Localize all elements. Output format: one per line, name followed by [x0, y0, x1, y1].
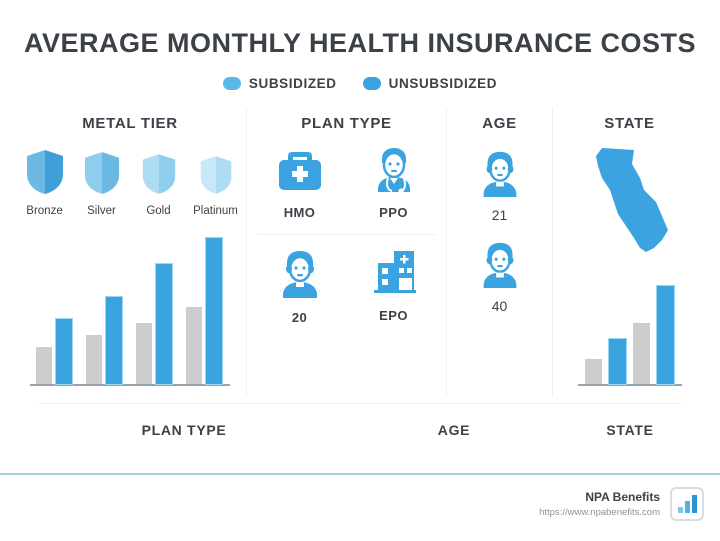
bottom-divider [38, 403, 682, 404]
age-label: 21 [447, 207, 552, 223]
plan-type-age-20: 20 [261, 247, 339, 325]
plan-type-bottom-row: 20 EPO [247, 247, 446, 325]
legend-swatch-icon [223, 77, 241, 90]
infographic-root: AVERAGE MONTHLY HEALTH INSURANCE COSTS S… [0, 0, 720, 438]
chart-baseline [30, 384, 230, 386]
icon-label: 20 [261, 310, 339, 325]
legend-swatch-icon [363, 77, 381, 90]
doctor-icon [368, 144, 420, 194]
state-bar-4 [657, 286, 674, 384]
logo-bar-1 [678, 507, 683, 513]
logo-bar-3 [692, 495, 697, 513]
footer-rule [0, 473, 720, 475]
plan-type-epo: EPO [355, 247, 433, 325]
bar-chart-logo-icon [670, 487, 704, 521]
footer-url[interactable]: https://www.npabenefits.com [539, 507, 660, 518]
metal-tier-bar-chart [30, 231, 230, 386]
shield-icon [25, 148, 65, 196]
legend: SUBSIDIZED UNSUBSIDIZED [0, 76, 720, 91]
chart-baseline [578, 384, 682, 386]
logo-bar-2 [685, 501, 690, 513]
metal-tier-shields: Bronze Silver Gold [14, 148, 246, 217]
person-icon [274, 247, 326, 299]
metal-tier-silver: Silver [77, 150, 127, 217]
bottom-label-plan-type: PLAN TYPE [14, 422, 354, 438]
age-40: 40 [447, 239, 552, 314]
shield-icon [199, 154, 233, 196]
medical-kit-icon [274, 144, 326, 194]
shield-icon [141, 152, 177, 196]
bar-platinum-unsubsidized [206, 238, 222, 384]
panel-age: AGE 21 [446, 107, 552, 397]
panel-title: METAL TIER [14, 107, 246, 132]
panel-state: STATE [552, 107, 706, 397]
state-bar-chart [578, 281, 682, 386]
icon-label: PPO [355, 205, 433, 220]
bottom-axis-labels: PLAN TYPE AGE STATE [0, 422, 720, 438]
panel-title: STATE [553, 107, 706, 132]
icon-label: HMO [261, 205, 339, 220]
bottom-label-age: AGE [354, 422, 554, 438]
footer-brand-name: NPA Benefits [539, 490, 660, 504]
legend-label: UNSUBSIDIZED [389, 76, 497, 91]
footer-text: NPA Benefits https://www.npabenefits.com [539, 490, 660, 518]
state-bar-1 [585, 359, 602, 385]
shield-label: Bronze [20, 205, 70, 217]
legend-item-unsubsidized: UNSUBSIDIZED [363, 76, 497, 91]
plan-type-top-row: HMO PPO [247, 144, 446, 220]
shield-label: Platinum [191, 205, 241, 217]
bar-gold-subsidized [136, 323, 152, 384]
metal-tier-gold: Gold [134, 152, 184, 217]
age-label: 40 [447, 298, 552, 314]
age-21: 21 [447, 148, 552, 223]
bar-silver-unsubsidized [106, 297, 122, 384]
hospital-icon [368, 247, 420, 297]
legend-item-subsidized: SUBSIDIZED [223, 76, 337, 91]
page-title: AVERAGE MONTHLY HEALTH INSURANCE COSTS [0, 0, 720, 59]
shield-label: Silver [77, 205, 127, 217]
legend-label: SUBSIDIZED [249, 76, 337, 91]
person-icon [475, 239, 525, 289]
plan-type-ppo: PPO [355, 144, 433, 220]
shield-icon [83, 150, 121, 196]
icon-label: EPO [355, 308, 433, 323]
bar-bronze-unsubsidized [56, 319, 72, 384]
metal-tier-bronze: Bronze [20, 148, 70, 217]
bar-silver-subsidized [86, 335, 102, 384]
bar-platinum-subsidized [186, 307, 202, 384]
footer: NPA Benefits https://www.npabenefits.com [539, 487, 704, 521]
state-bar-3 [633, 323, 650, 384]
shield-label: Gold [134, 205, 184, 217]
state-bar-2 [609, 339, 626, 384]
bar-bronze-subsidized [36, 347, 52, 385]
panel-title: AGE [447, 107, 552, 132]
panel-title: PLAN TYPE [247, 107, 446, 132]
panels-row: METAL TIER Bronze Silver [0, 107, 720, 397]
bar-gold-unsubsidized [156, 264, 172, 384]
plan-type-hmo: HMO [261, 144, 339, 220]
state-map-wrap [553, 144, 706, 269]
person-icon [475, 148, 525, 198]
california-map-icon [588, 144, 672, 264]
plan-type-divider [257, 234, 436, 235]
panel-plan-type: PLAN TYPE HMO [246, 107, 446, 397]
metal-tier-platinum: Platinum [191, 154, 241, 217]
panel-metal-tier: METAL TIER Bronze Silver [14, 107, 246, 397]
bottom-label-state: STATE [554, 422, 706, 438]
